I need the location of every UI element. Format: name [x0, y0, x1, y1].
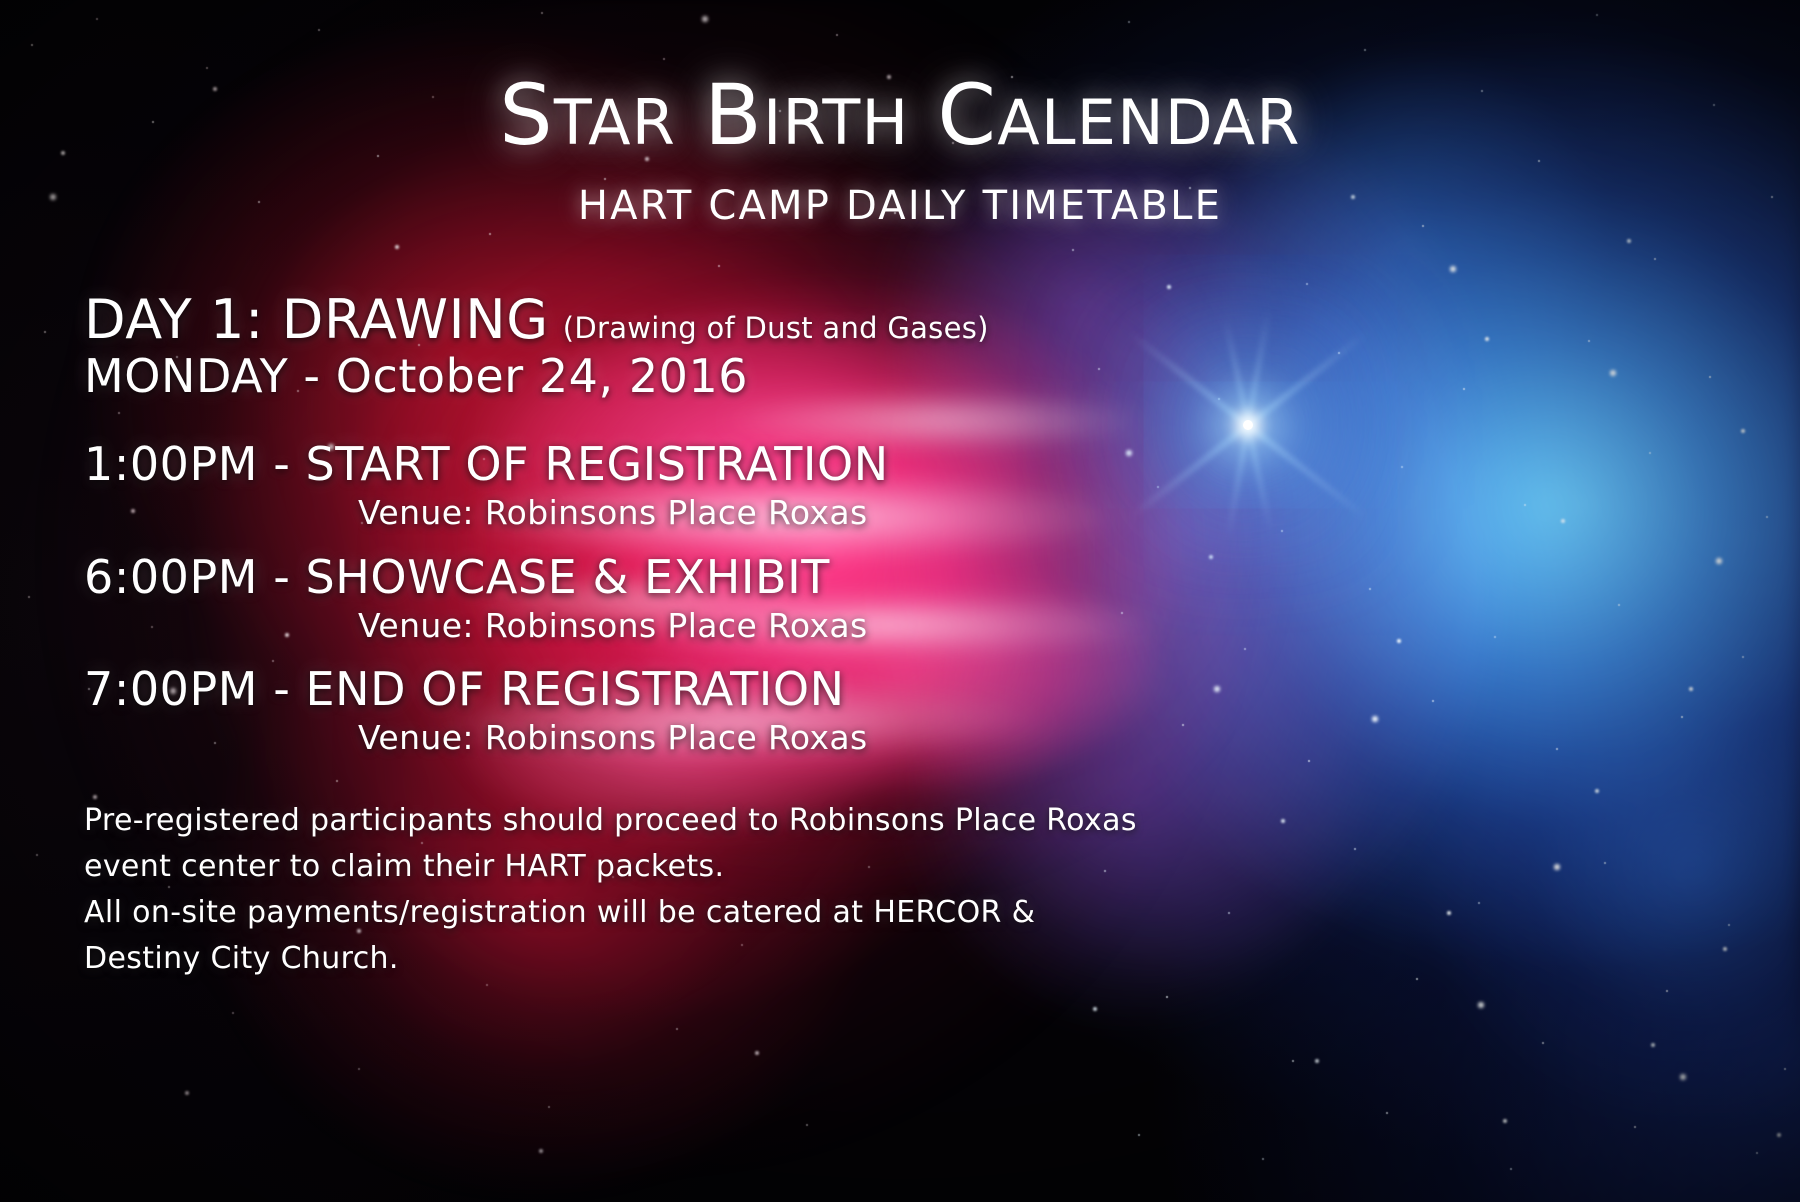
title-cap-1: S — [499, 66, 554, 164]
schedule-venue-label: Venue: Robinsons Place Roxas — [84, 718, 868, 757]
schedule-time-label: 1:00PM - START OF REGISTRATION — [84, 437, 889, 491]
footer-note-line: event center to claim their HART packets… — [84, 844, 1514, 890]
schedule-item: 1:00PM - START OF REGISTRATION Venue: Ro… — [84, 437, 889, 532]
schedule-time-label: 7:00PM - END OF REGISTRATION — [84, 662, 868, 716]
footer-notes: Pre-registered participants should proce… — [84, 798, 1514, 982]
schedule-venue-label: Venue: Robinsons Place Roxas — [84, 493, 889, 532]
page-subtitle: HART CAMP DAILY TIMETABLE — [0, 183, 1800, 229]
title-rest-1: TAR — [554, 86, 676, 159]
day-heading: DAY 1: DRAWING(Drawing of Dust and Gases… — [84, 288, 989, 351]
schedule-item: 6:00PM - SHOWCASE & EXHIBIT Venue: Robin… — [84, 550, 868, 645]
title-rest-3: ALENDAR — [997, 86, 1300, 159]
date-line: MONDAY - October 24, 2016 — [84, 349, 748, 403]
footer-note-line: Destiny City Church. — [84, 936, 1514, 982]
star-birth-calendar-poster: STAR BIRTH CALENDAR HART CAMP DAILY TIME… — [0, 0, 1800, 1202]
day-heading-main: DAY 1: DRAWING — [84, 288, 549, 351]
schedule-time-label: 6:00PM - SHOWCASE & EXHIBIT — [84, 550, 868, 604]
day-heading-parenthetical: (Drawing of Dust and Gases) — [563, 311, 989, 345]
footer-note-line: Pre-registered participants should proce… — [84, 798, 1514, 844]
schedule-item: 7:00PM - END OF REGISTRATION Venue: Robi… — [84, 662, 868, 757]
title-cap-3: C — [937, 66, 997, 164]
title-cap-2: B — [704, 66, 763, 164]
schedule-venue-label: Venue: Robinsons Place Roxas — [84, 606, 868, 645]
footer-note-line: All on-site payments/registration will b… — [84, 890, 1514, 936]
page-title: STAR BIRTH CALENDAR — [0, 73, 1800, 157]
poster-content: STAR BIRTH CALENDAR HART CAMP DAILY TIME… — [0, 0, 1800, 1202]
title-rest-2: IRTH — [763, 86, 909, 159]
